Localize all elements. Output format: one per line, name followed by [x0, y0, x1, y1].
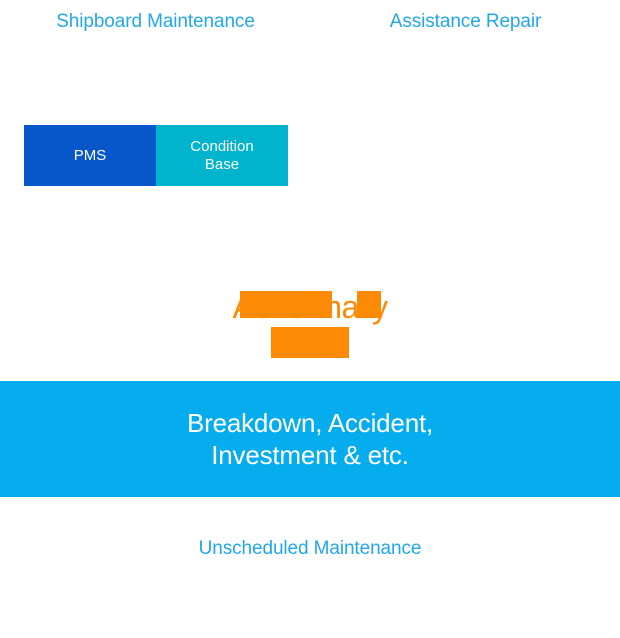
redaction-bar-2 [357, 291, 381, 318]
bar-cell-condition-base: Condition Base [156, 125, 288, 186]
label-assistance-repair: Assistance Repair [311, 11, 620, 33]
redaction-block-second-line [271, 327, 349, 358]
banner-text: Breakdown, Accident, Investment & etc. [187, 407, 433, 472]
label-shipboard-maintenance: Shipboard Maintenance [0, 11, 311, 33]
redaction-bar-1 [240, 291, 332, 318]
diagram-canvas: Shipboard Maintenance Assistance Repair … [0, 0, 620, 638]
unscheduled-events-banner: Breakdown, Accident, Investment & etc. [0, 381, 620, 497]
maintenance-type-bar: PMS Condition Base [24, 125, 288, 186]
label-unscheduled-maintenance: Unscheduled Maintenance [0, 538, 620, 560]
bar-cell-pms: PMS [24, 125, 156, 186]
